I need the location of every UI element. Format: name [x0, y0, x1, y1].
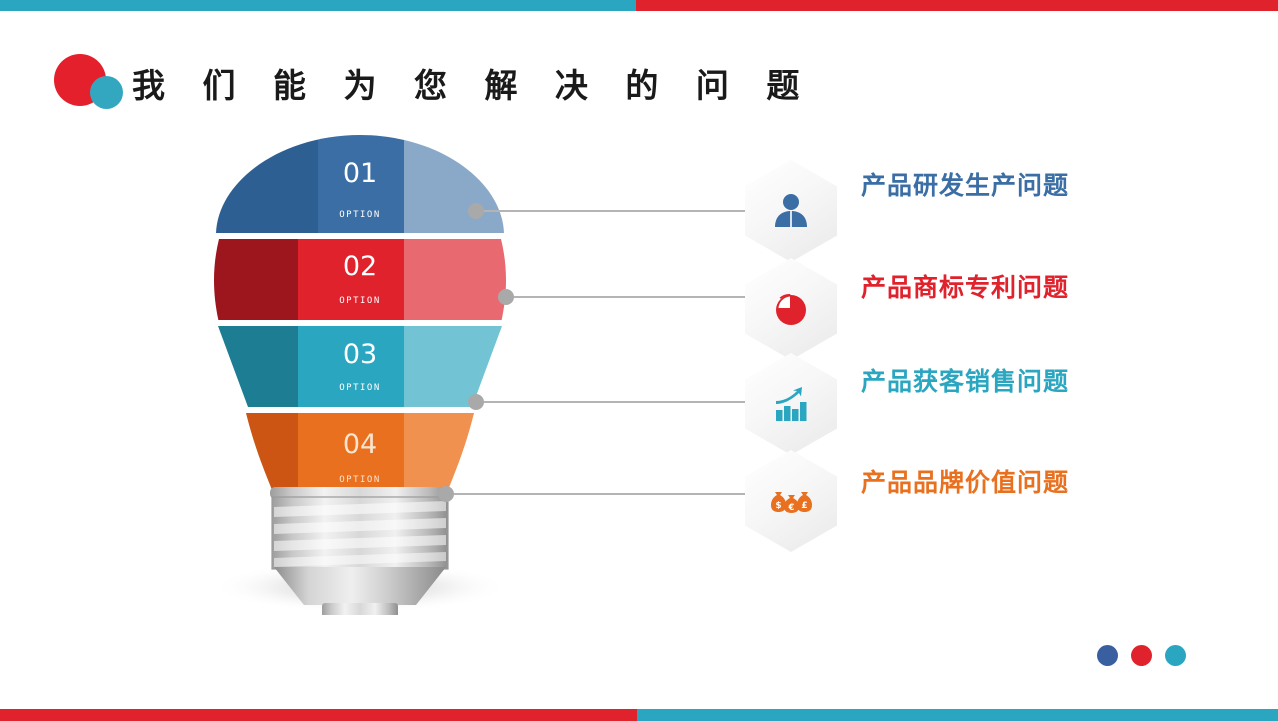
top-bar-red-segment — [636, 0, 1278, 11]
connector-knob-4 — [438, 486, 454, 502]
item-label-1: 产品研发生产问题 — [861, 166, 1069, 202]
dot-teal — [1165, 645, 1186, 666]
connector-line-4 — [438, 486, 746, 502]
connector-knob-2 — [498, 289, 514, 305]
hex-tile-1[interactable] — [745, 160, 837, 262]
bulb-segment-01-caption: OPTION — [339, 210, 381, 220]
connector-line-1 — [468, 203, 746, 219]
top-bar-teal-segment — [0, 0, 636, 11]
svg-text:£: £ — [801, 501, 807, 511]
bottom-bar-teal-segment — [637, 709, 1278, 721]
bulb-screw-base — [270, 487, 450, 615]
item-label-3: 产品获客销售问题 — [861, 362, 1069, 398]
item-label-2: 产品商标专利问题 — [861, 268, 1069, 304]
page-title: 我 们 能 为 您 解 决 的 问 题 — [132, 59, 812, 107]
bottom-accent-bar — [0, 709, 1278, 721]
bulb-segment-01-number: 01 — [343, 158, 377, 189]
svg-text:€: € — [788, 503, 795, 513]
hex-tile-4[interactable]: $ € £ — [745, 450, 837, 552]
connector-wire-4 — [454, 493, 746, 495]
logo-mark — [50, 52, 132, 114]
bulb-segment-03-caption: OPTION — [339, 383, 381, 393]
bulb-segment-02-number: 02 — [343, 251, 377, 282]
bulb-segment-04-number: 04 — [343, 429, 377, 460]
top-accent-bar — [0, 0, 1278, 11]
connector-knob-1 — [468, 203, 484, 219]
connector-line-3 — [468, 394, 746, 410]
footer-dots — [1097, 645, 1186, 666]
bulb-segment-04-caption: OPTION — [339, 475, 381, 485]
item-label-4: 产品品牌价值问题 — [861, 463, 1069, 499]
pie-chart-icon — [768, 286, 814, 332]
bulb-segment-02-caption: OPTION — [339, 296, 381, 306]
dot-red — [1131, 645, 1152, 666]
hex-tile-2[interactable] — [745, 258, 837, 360]
connector-knob-3 — [468, 394, 484, 410]
bulb-segment-03-number: 03 — [343, 339, 377, 370]
hex-tile-3[interactable] — [745, 353, 837, 455]
bar-chart-growth-icon — [768, 381, 814, 427]
bottom-bar-red-segment — [0, 709, 637, 721]
svg-text:$: $ — [775, 501, 781, 511]
bulb-segment-01 — [210, 135, 510, 245]
slide-header: 我 们 能 为 您 解 决 的 问 题 — [50, 52, 812, 114]
connector-wire-3 — [484, 401, 746, 403]
person-icon — [768, 188, 814, 234]
money-bags-icon: $ € £ — [768, 478, 814, 524]
connector-line-2 — [498, 289, 746, 305]
dot-blue — [1097, 645, 1118, 666]
connector-wire-2 — [514, 296, 746, 298]
teal-circle-icon — [90, 76, 123, 109]
light-bulb-infographic: 01 OPTION 02 OPTION 03 OPTION 04 — [210, 135, 510, 615]
connector-wire-1 — [484, 210, 746, 212]
